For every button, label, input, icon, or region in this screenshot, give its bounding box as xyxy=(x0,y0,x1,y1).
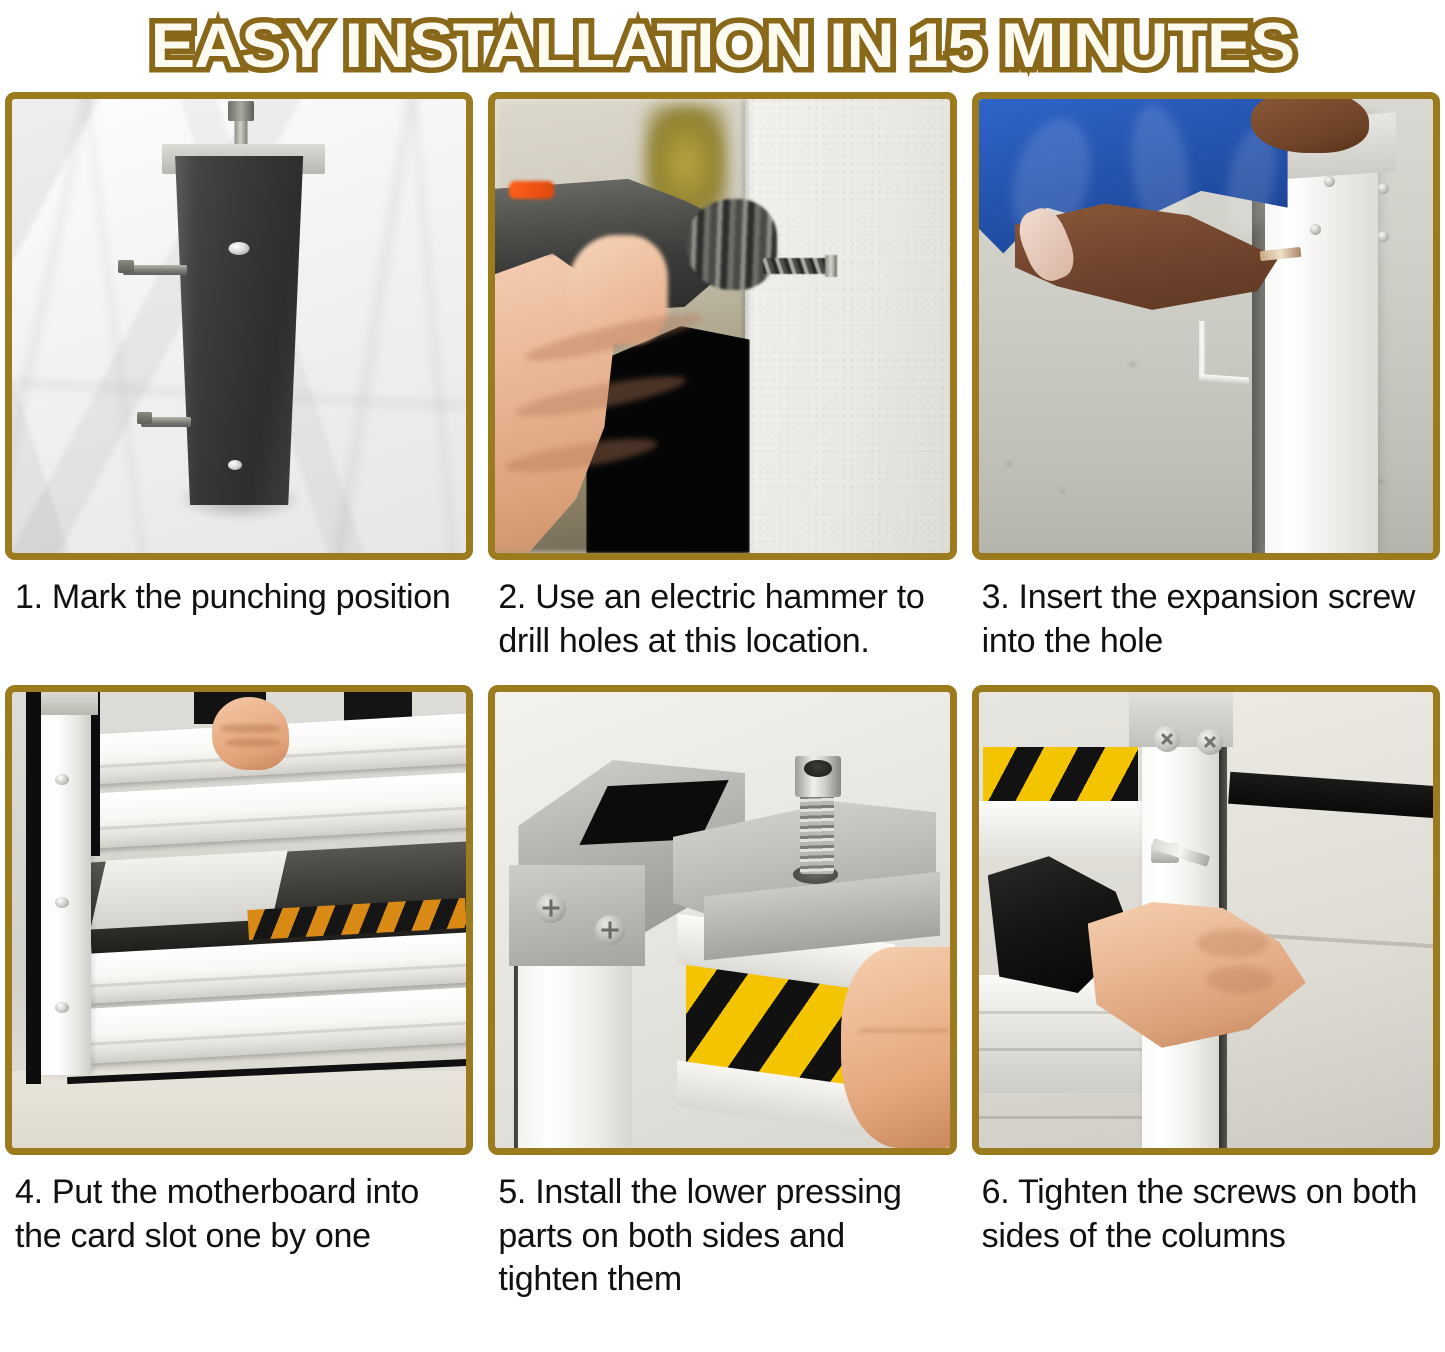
step-1-photo-mounting-bracket xyxy=(5,92,473,560)
header-banner: EASY INSTALLATION IN 15 MINUTES xyxy=(0,0,1445,92)
page-title: EASY INSTALLATION IN 15 MINUTES xyxy=(151,15,1294,78)
step-6-caption: 6. Tighten the screws on both sides of t… xyxy=(972,1155,1440,1258)
step-card-4: 4. Put the motherboard into the card slo… xyxy=(5,685,473,1302)
step-1-caption: 1. Mark the punching position xyxy=(5,560,473,620)
step-4-caption: 4. Put the motherboard into the card slo… xyxy=(5,1155,473,1258)
step-4-photo-boards-in-slot xyxy=(5,685,473,1155)
step-card-5: 5. Install the lower pressing parts on b… xyxy=(488,685,956,1302)
row-separator xyxy=(0,663,1445,685)
installation-guide-sheet: EASY INSTALLATION IN 15 MINUTES xyxy=(0,0,1445,1352)
step-6-photo-tighten-screws xyxy=(972,685,1440,1155)
step-2-caption: 2. Use an electric hammer to drill holes… xyxy=(488,560,956,663)
step-card-2: 2. Use an electric hammer to drill holes… xyxy=(488,92,956,663)
step-5-caption: 5. Install the lower pressing parts on b… xyxy=(488,1155,956,1302)
step-card-3: 3. Insert the expansion screw into the h… xyxy=(972,92,1440,663)
step-3-photo-expansion-screw xyxy=(972,92,1440,560)
step-3-caption: 3. Insert the expansion screw into the h… xyxy=(972,560,1440,663)
step-card-1: 1. Mark the punching position xyxy=(5,92,473,663)
step-2-photo-drilling-wall xyxy=(488,92,956,560)
steps-row-1: 1. Mark the punching position xyxy=(0,92,1445,663)
step-5-photo-pressing-bracket xyxy=(488,685,956,1155)
steps-row-2: 4. Put the motherboard into the card slo… xyxy=(0,685,1445,1302)
step-card-6: 6. Tighten the screws on both sides of t… xyxy=(972,685,1440,1302)
